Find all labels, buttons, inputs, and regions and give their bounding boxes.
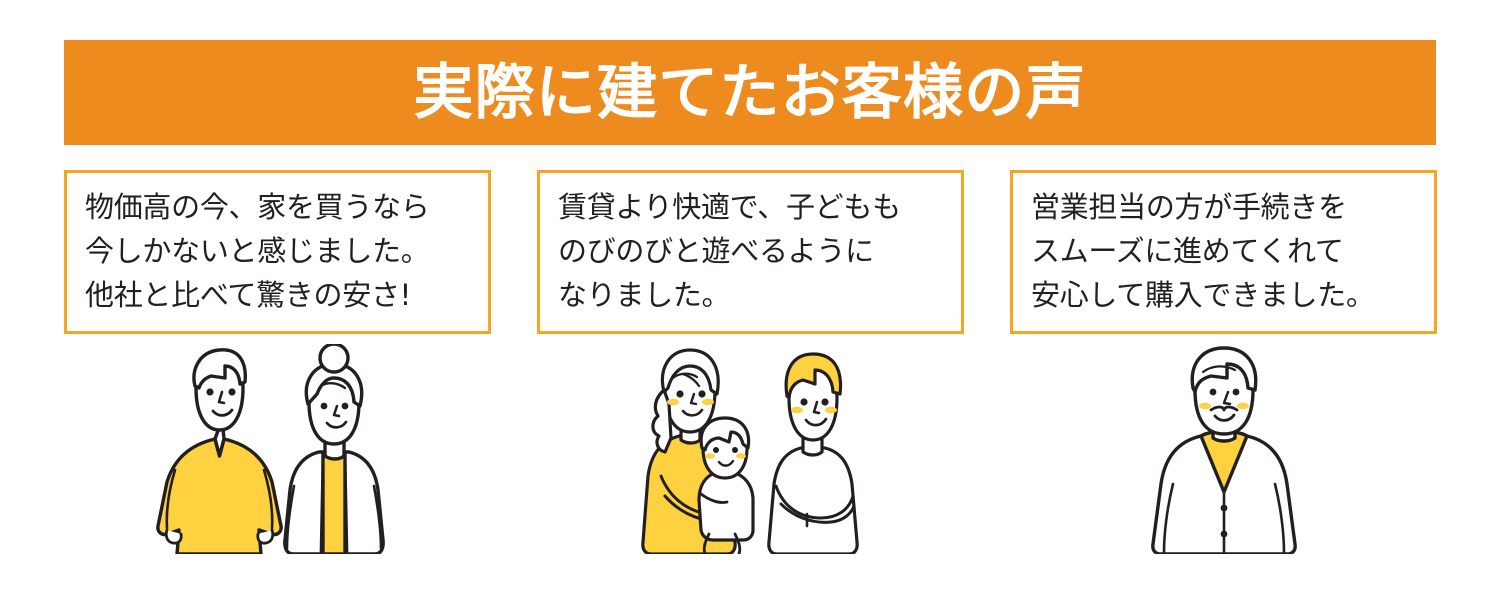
quote-line: 安心して購入できました。 [1031, 273, 1418, 317]
quote-box-1: 物価高の今、家を買うなら 今しかないと感じました。 他社と比べて驚きの安さ! [64, 170, 491, 334]
illustration-family [537, 344, 964, 554]
testimonial-card-1: 物価高の今、家を買うなら 今しかないと感じました。 他社と比べて驚きの安さ! [64, 170, 491, 590]
quote-line: なりました。 [558, 273, 945, 317]
quote-box-2: 賃貸より快適で、子どもも のびのびと遊べるように なりました。 [537, 170, 964, 334]
section-header-band: 実際に建てたお客様の声 [64, 40, 1436, 145]
illustration-couple [64, 344, 491, 554]
testimonial-card-2: 賃貸より快適で、子どもも のびのびと遊べるように なりました。 [537, 170, 964, 590]
couple-illustration-svg [153, 344, 403, 554]
testimonials-section: 実際に建てたお客様の声 物価高の今、家を買うなら 今しかないと感じました。 他社… [0, 0, 1500, 590]
quote-line: のびのびと遊べるように [558, 229, 945, 273]
quote-line: スムーズに進めてくれて [1031, 229, 1418, 273]
quote-box-3: 営業担当の方が手続きを スムーズに進めてくれて 安心して購入できました。 [1010, 170, 1437, 334]
quote-line: 今しかないと感じました。 [85, 229, 472, 273]
page-title: 実際に建てたお客様の声 [413, 63, 1086, 123]
family-illustration-svg [631, 344, 871, 554]
quote-line: 物価高の今、家を買うなら [85, 185, 472, 229]
elderly-man-illustration-svg [1139, 344, 1309, 554]
testimonial-card-3: 営業担当の方が手続きを スムーズに進めてくれて 安心して購入できました。 [1010, 170, 1437, 590]
testimonial-columns: 物価高の今、家を買うなら 今しかないと感じました。 他社と比べて驚きの安さ! [64, 170, 1437, 590]
quote-line: 賃貸より快適で、子どもも [558, 185, 945, 229]
illustration-elderly-man [1010, 344, 1437, 554]
quote-line: 営業担当の方が手続きを [1031, 185, 1418, 229]
quote-line: 他社と比べて驚きの安さ! [85, 273, 472, 317]
